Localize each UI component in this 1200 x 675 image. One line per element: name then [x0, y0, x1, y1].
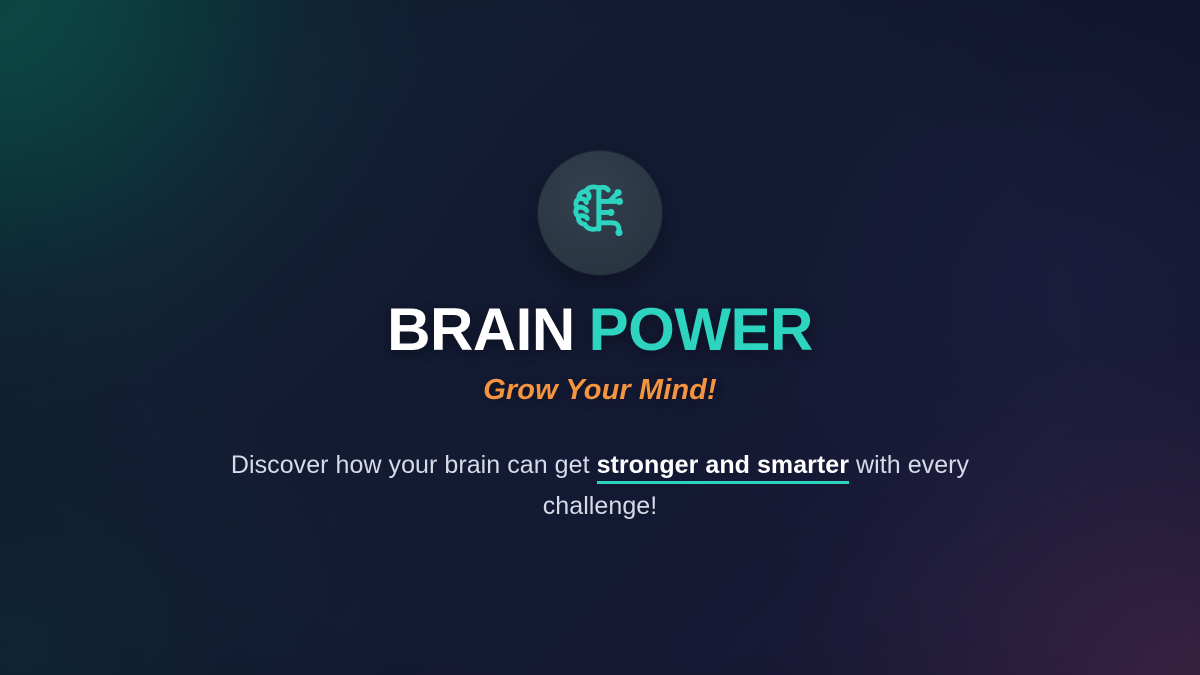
slide-body-text: Discover how your brain can get stronger…: [220, 445, 980, 527]
body-text-highlight: stronger and smarter: [597, 451, 849, 484]
slide-tagline: Grow Your Mind!: [0, 375, 1200, 407]
brain-icon-badge: [538, 151, 662, 275]
slide-title: BRAINPOWER: [0, 300, 1200, 360]
presentation-slide: BRAINPOWER Grow Your Mind! Discover how …: [0, 0, 1200, 675]
title-word-power: POWER: [589, 296, 813, 363]
body-text-lead: Discover how your brain can get: [231, 451, 597, 479]
brain-icon: [563, 176, 637, 250]
title-word-brain: BRAIN: [387, 296, 575, 363]
